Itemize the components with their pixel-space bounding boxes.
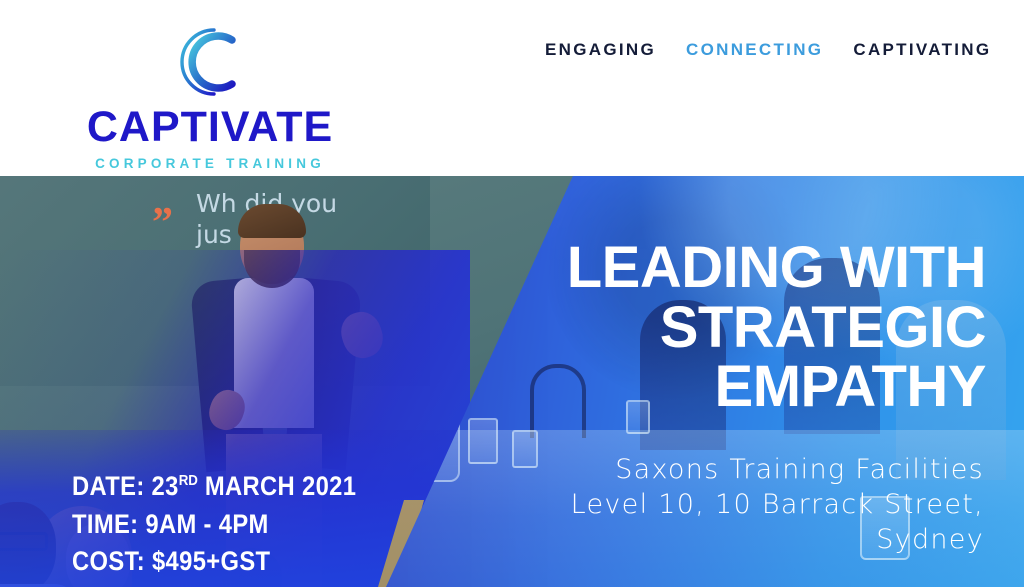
brand-tagline: ENGAGING CONNECTING CAPTIVATING (545, 40, 991, 60)
date-day: 23 (152, 471, 179, 501)
event-title-line2: STRATEGIC (426, 298, 986, 358)
venue-block: Saxons Training Facilities Level 10, 10 … (484, 452, 984, 557)
venue-line3: Sydney (484, 522, 984, 557)
event-details: DATE: 23RD MARCH 2021 TIME: 9AM - 4PM CO… (72, 468, 356, 581)
header-band: CAPTIVATE CORPORATE TRAINING ENGAGING CO… (0, 0, 1024, 176)
tagline-word-captivating: CAPTIVATING (853, 40, 991, 60)
double-c-logo-icon (158, 20, 262, 104)
event-cost-line: COST: $495+GST (72, 543, 356, 581)
event-title-line1: LEADING WITH (426, 238, 986, 298)
event-title: LEADING WITH STRATEGIC EMPATHY (426, 238, 986, 417)
brand-logo[interactable]: CAPTIVATE CORPORATE TRAINING (60, 14, 360, 174)
flyer-canvas: ” Wh did you jus e? (0, 0, 1024, 587)
event-title-line3: EMPATHY (426, 357, 986, 417)
date-month-year: MARCH 2021 (205, 471, 356, 501)
date-ordinal: RD (179, 472, 198, 489)
brand-name: CAPTIVATE (60, 106, 360, 149)
tagline-word-connecting: CONNECTING (686, 40, 823, 60)
event-date-line: DATE: 23RD MARCH 2021 (72, 468, 356, 506)
brand-subtitle: CORPORATE TRAINING (60, 156, 360, 171)
date-label: DATE: (72, 471, 145, 501)
event-time-line: TIME: 9AM - 4PM (72, 506, 356, 544)
presenter-hair (238, 204, 306, 238)
quote-mark-icon: ” (152, 202, 173, 244)
venue-line1: Saxons Training Facilities (484, 452, 984, 487)
venue-line2: Level 10, 10 Barrack Street, (484, 487, 984, 522)
tagline-word-engaging: ENGAGING (545, 40, 656, 60)
